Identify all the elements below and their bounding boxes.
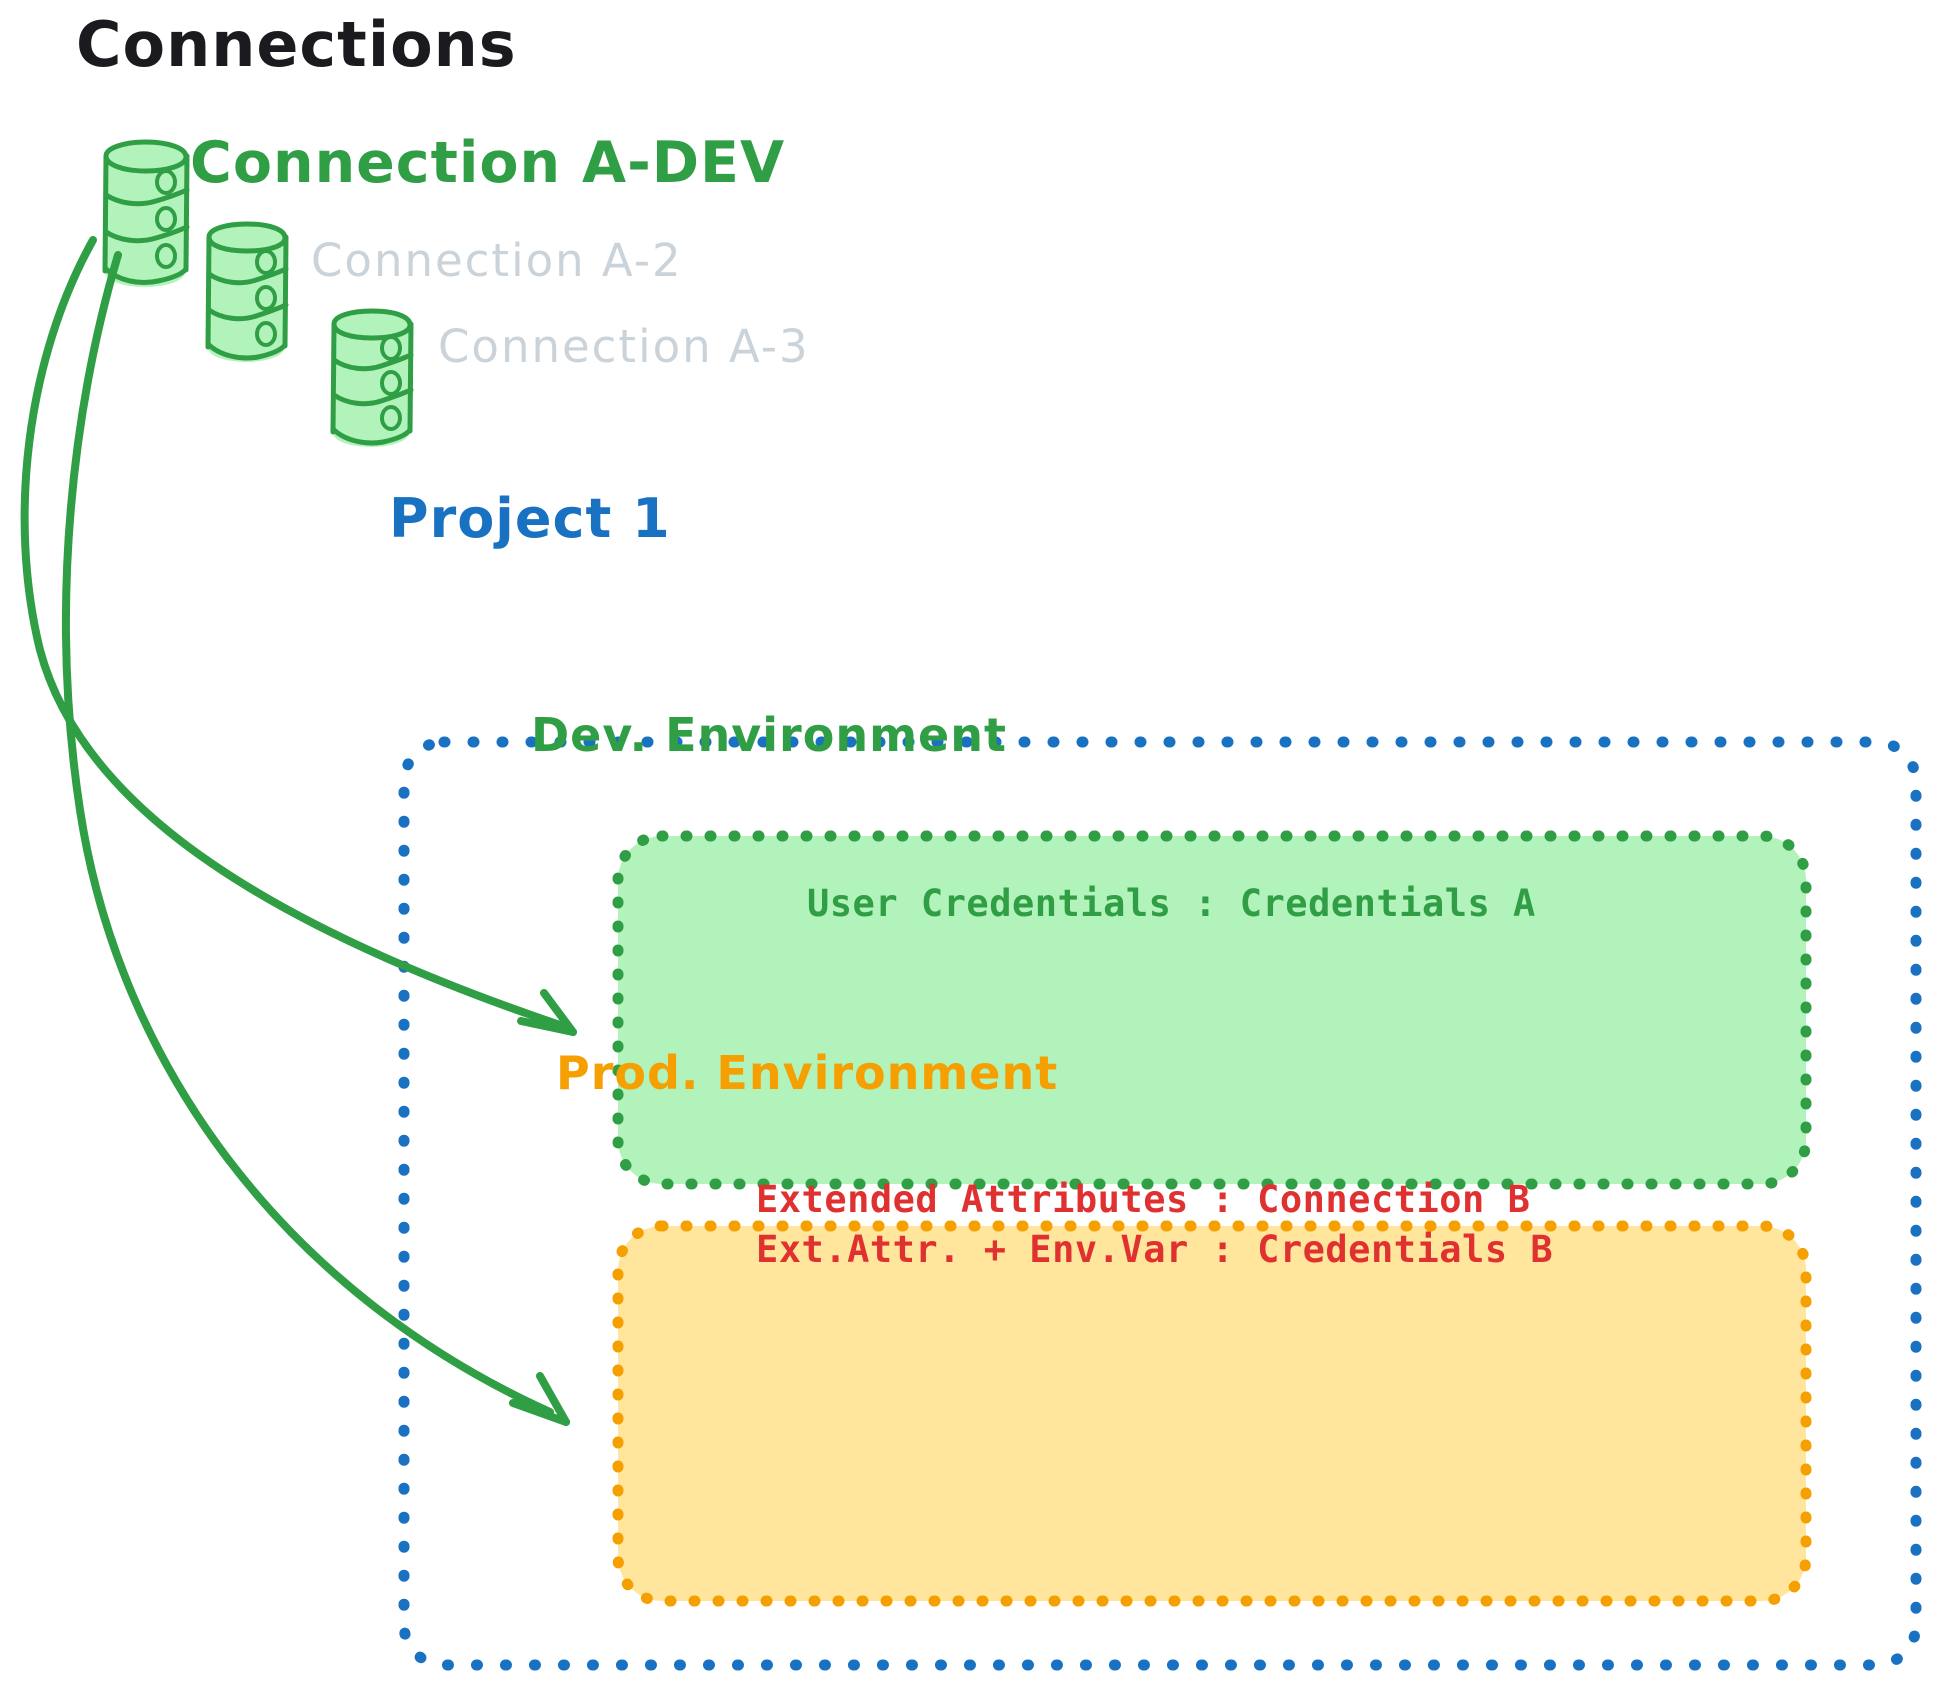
prod-environment-row-ext-attr-env-var: Ext.Attr. + Env.Var : Credentials B: [756, 1228, 1553, 1271]
database-icon-connection-a-3[interactable]: [333, 311, 411, 447]
page-title: Connections: [76, 8, 517, 81]
connection-label-a-2[interactable]: Connection A-2: [311, 234, 683, 287]
prod-environment-row-extended-attributes: Extended Attributes : Connection B: [756, 1178, 1530, 1221]
diagram-canvas: Connections Connection A-DEV Connection …: [0, 0, 1938, 1691]
connection-label-a-3[interactable]: Connection A-3: [438, 320, 810, 373]
arrow-to-prod-environment: [66, 255, 566, 1422]
prod-environment-title: Prod. Environment: [556, 1046, 1058, 1100]
diagram-graphics: [0, 0, 1938, 1691]
prod-environment-box[interactable]: [618, 1226, 1806, 1601]
database-icon-connection-a-2[interactable]: [208, 224, 286, 362]
project-title: Project 1: [389, 487, 671, 550]
dev-environment-title: Dev. Environment: [531, 708, 1007, 762]
dev-environment-row-user-credentials: User Credentials : Credentials A: [807, 882, 1536, 925]
connection-label-a-dev[interactable]: Connection A-DEV: [190, 130, 785, 196]
